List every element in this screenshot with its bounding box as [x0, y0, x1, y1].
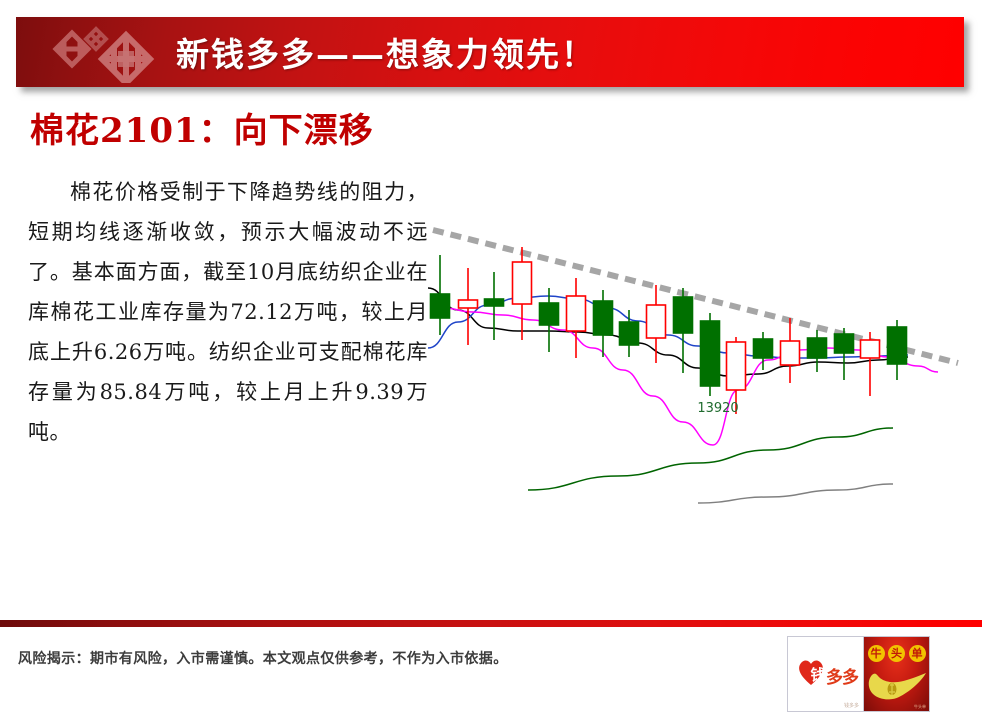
footer-logo-block: 钱 多多 钱多多 牛 头 单 牛头单 [787, 636, 930, 712]
candle-body [861, 340, 880, 358]
niutoudan-char-2: 单 [909, 645, 926, 662]
candlestick-chart: 13920 [418, 200, 978, 510]
candle-3 [513, 247, 532, 340]
candle-12 [754, 332, 773, 370]
candle-10 [701, 313, 720, 396]
candle-9 [674, 288, 693, 373]
candle-14 [808, 330, 827, 372]
candle-body [888, 327, 907, 364]
candle-13 [781, 318, 800, 383]
candle-body [485, 299, 504, 306]
banner-title: 新钱多多——想象力领先！ [176, 28, 596, 76]
page-title: 棉花2101：向下漂移 [30, 103, 374, 152]
chart-canvas: 13920 [418, 200, 978, 510]
niutoudan-char-0: 牛 [868, 645, 885, 662]
candle-5 [567, 278, 586, 358]
qianduoduo-heart-char: 钱 [803, 664, 833, 685]
qianduoduo-mini-text: 钱多多 [844, 702, 859, 709]
candle-body [513, 262, 532, 304]
candle-1 [459, 268, 478, 345]
candle-7 [620, 310, 639, 357]
bull-head-icon [864, 661, 929, 709]
candle-body [781, 341, 800, 365]
chinese-knot-icon [34, 21, 174, 83]
candle-4 [540, 288, 559, 352]
footer-divider [0, 620, 982, 627]
candle-0 [431, 255, 450, 335]
candle-body [620, 322, 639, 345]
candle-body [594, 301, 613, 335]
candle-body [727, 342, 746, 390]
footer-disclaimer: 风险揭示：期市有风险，入市需谨慎。本文观点仅供参考，不作为入市依据。 [18, 648, 508, 668]
chart-price-annotation-0: 13920 [697, 401, 738, 416]
candle-body [701, 321, 720, 386]
niutoudan-chars: 牛 头 单 [864, 645, 929, 662]
body-paragraph: 棉花价格受制于下降趋势线的阻力，短期均线逐渐收敛，预示大幅波动不远了。基本面方面… [28, 172, 428, 452]
candle-8 [647, 285, 666, 363]
candle-body [540, 303, 559, 325]
niutoudan-mini-text: 牛头单 [914, 704, 926, 710]
header-banner: 新钱多多——想象力领先！ [16, 17, 964, 87]
chart-series-indicator-green [528, 428, 893, 490]
chart-series-layer [428, 230, 958, 503]
candle-body [674, 297, 693, 333]
candle-body [647, 305, 666, 338]
candle-16 [861, 332, 880, 396]
candle-body [567, 296, 586, 331]
candle-body [754, 339, 773, 358]
candle-6 [594, 290, 613, 357]
candle-body [808, 338, 827, 358]
candle-body [459, 300, 478, 308]
slide-root: 新钱多多——想象力领先！ 棉花2101：向下漂移 棉花价格受制于下降趋势线的阻力… [0, 0, 982, 720]
candle-17 [888, 320, 907, 380]
niutoudan-logo: 牛 头 单 牛头单 [864, 637, 929, 711]
niutoudan-char-1: 头 [888, 645, 905, 662]
candle-body [431, 294, 450, 318]
chart-series-indicator-gray [698, 484, 893, 503]
candle-15 [835, 328, 854, 380]
qianduoduo-logo: 钱 多多 钱多多 [788, 637, 864, 711]
chart-annotation-layer: 13920 [697, 401, 738, 416]
candle-body [835, 334, 854, 353]
